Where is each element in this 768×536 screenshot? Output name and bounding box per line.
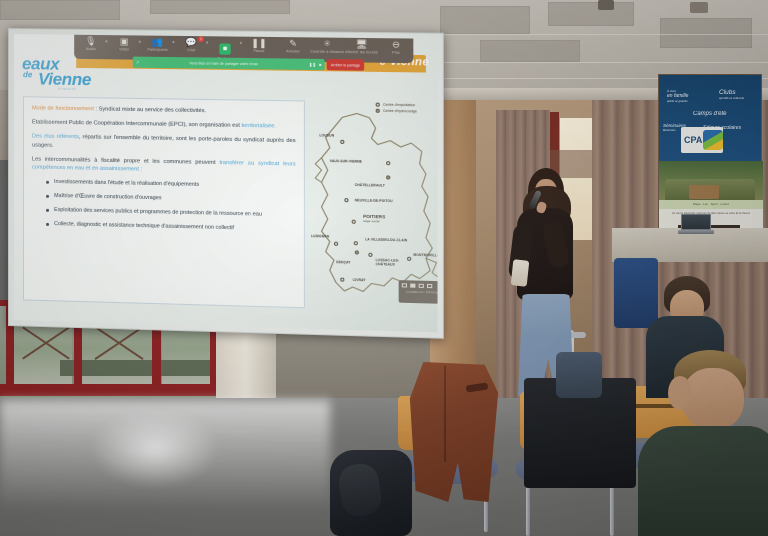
- logo-de-text: de: [23, 70, 32, 79]
- chat-unread-badge: 1: [198, 36, 204, 42]
- map-legend: Centre d'exploitation Centre d'hydrocura…: [376, 102, 417, 115]
- toolbar-participants-button[interactable]: 👥 ▲ Participants: [141, 36, 175, 52]
- toolbar-chat-label: Chat: [174, 48, 208, 52]
- presenter-papers: [511, 259, 530, 287]
- toolbar-audio-button[interactable]: 🎙 ▲ Audio: [74, 36, 107, 51]
- map-city-label: CIVRAY: [353, 278, 366, 282]
- toolbar-chat-button[interactable]: 💬 1 ▲ Chat: [174, 37, 208, 53]
- map-city-label: LOUDUN: [319, 133, 334, 137]
- toolbar-pause-label: Pause: [242, 49, 276, 53]
- laptop: [678, 214, 714, 236]
- slide-text-panel: Mode de fonctionnement : Syndicat mixte …: [23, 96, 305, 308]
- slide-bullet-item: Maîtrise d'Œuvre de construction d'ouvra…: [46, 192, 296, 205]
- slide-heading-line: Mode de fonctionnement : Syndicat mixte …: [32, 104, 296, 117]
- cpa-roll-up-banner: À vivre en famille petits et grands Club…: [658, 74, 762, 229]
- map-legend-label-1: Centre d'hydrocurage: [383, 108, 417, 115]
- toolbar-annotate-label: Annoter: [276, 49, 310, 53]
- cpa-strip: Plage · Lac · Sport · Loisirs: [659, 200, 763, 209]
- cpa-logo: CPA: [681, 127, 723, 153]
- slide-paragraph-4: Les intercommunalités à fiscalité propre…: [32, 155, 296, 177]
- backpack-strap: [337, 461, 384, 518]
- cpa-photo: [659, 161, 763, 205]
- toolbar-pause-button[interactable]: ❚❚ Pause: [242, 38, 276, 54]
- slide-heading-rest: : Syndicat mixte au service des collecti…: [94, 106, 206, 114]
- pause-icon: ❚❚: [242, 38, 276, 49]
- map-overlay-toolbar[interactable]: La qualité ici à : 178 Kil 0c: [399, 280, 438, 304]
- toolbar-video-label: Vidéo: [107, 47, 140, 51]
- cpa-strip-text: Plage · Lac · Sport · Loisirs: [659, 200, 763, 209]
- map-city-label: VAUX-SUR-VIENNE: [330, 159, 362, 164]
- slide-bullet-item: Collecte, diagnostic et assistance techn…: [46, 220, 296, 234]
- stop-small-icon[interactable]: ■: [319, 62, 322, 67]
- photo-scene: À vivre en famille petits et grands Club…: [0, 0, 768, 536]
- stop-share-label: Arrêter le partage: [331, 63, 360, 67]
- attendee-front-right: [656, 350, 768, 536]
- toolbar-more-button[interactable]: ⊖ Plus: [379, 39, 414, 55]
- toolbar-participants-label: Participants: [141, 48, 175, 52]
- cpa-line-0-sub2: petits et grands: [667, 99, 688, 103]
- slide-paragraph-2: Établissement Public de Coopération Inte…: [32, 118, 296, 131]
- laptop-keyboard: [678, 230, 714, 234]
- map-city-sub: siège social: [363, 219, 385, 224]
- stop-share-button[interactable]: Arrêter le partage: [327, 59, 364, 71]
- attendee-shoulder-mid: [556, 352, 602, 398]
- toolbar-more-label: Plus: [379, 50, 414, 55]
- annotate-pen-icon: ✎: [276, 38, 310, 49]
- toolbar-remote-control-button[interactable]: ⍟ Contrôle à distance: [310, 38, 344, 54]
- toolbar-show-screens-label: Afficher les écrans: [344, 50, 378, 55]
- cpa-line-1: Clubs: [719, 89, 736, 96]
- map-city-label: LUSSAC-LES-CHÂTEAUX: [376, 258, 403, 267]
- cpa-line-1-sub: sportifs et culturels: [719, 96, 744, 100]
- projected-slide: e Vienne 🎙 ▲ Audio ▣ ▲ Vidéo 👥 ▲ Partici…: [14, 34, 438, 332]
- microphone-icon: 🎙: [74, 36, 107, 46]
- slide-bullet-item: Exploitation des services publics et pro…: [46, 206, 296, 220]
- participants-icon: 👥: [141, 36, 175, 46]
- map-city-label-poitiers: POITIERS siège social: [363, 214, 385, 224]
- more-icon: ⊖: [379, 39, 414, 50]
- toolbar-audio-label: Audio: [74, 47, 107, 51]
- logo-subtitle: SYNDICAT: [58, 87, 76, 91]
- video-camera-icon: ▣: [107, 36, 140, 46]
- cpa-logo-swoosh: [703, 130, 723, 150]
- toolbar-remote-control-label: Contrôle à distance: [310, 50, 344, 54]
- map-city-label: GENÇAY: [336, 260, 351, 264]
- slide-paragraph-3: Des élus référents, répartis sur l'ensem…: [32, 132, 296, 154]
- slide-para2-text: Établissement Public de Coopération Inte…: [32, 119, 241, 129]
- coat-pocket: [466, 383, 489, 393]
- share-arrow-icon: ↗: [136, 60, 139, 65]
- slide-heading-label: Mode de fonctionnement: [32, 105, 94, 112]
- share-screen-icon: ■: [219, 43, 230, 54]
- open-circle-icon: [376, 103, 380, 107]
- vienne-department-map: Centre d'exploitation Centre d'hydrocura…: [311, 96, 437, 309]
- map-city-label: CHÂTELLERAULT: [355, 183, 385, 188]
- filled-circle-icon: [376, 109, 380, 113]
- remote-control-icon: ⍟: [310, 38, 344, 49]
- map-city-label: NEUVILLE-DE-POITOU: [355, 198, 393, 203]
- overlay-icon-2[interactable]: [410, 283, 415, 287]
- projection-screen: e Vienne 🎙 ▲ Audio ▣ ▲ Vidéo 👥 ▲ Partici…: [8, 28, 444, 339]
- backpack: [330, 450, 412, 536]
- floor-highlight: [90, 408, 220, 488]
- map-legend-item-1: Centre d'hydrocurage: [376, 108, 417, 115]
- slide-para3-highlight: Des élus référents: [32, 133, 79, 140]
- eaux-de-vienne-logo: eaux de Vienne SYNDICAT: [22, 56, 115, 97]
- map-overlay-buttons[interactable]: [402, 283, 438, 288]
- share-status-text: Vous êtes en train de partager votre écr…: [142, 60, 306, 66]
- cpa-logo-letters: CPA: [681, 137, 702, 144]
- toolbar-annotate-button[interactable]: ✎ Annoter: [276, 38, 310, 54]
- show-screens-icon: 🖥: [344, 39, 378, 50]
- laptop-screen: [681, 214, 711, 230]
- coat-seam: [444, 366, 446, 462]
- overlay-icon-1[interactable]: [402, 283, 407, 287]
- attendee-ear: [668, 376, 692, 410]
- slide-para2-highlight: territorialisée.: [241, 123, 276, 130]
- cpa-line-2: Camps d'été: [693, 111, 727, 117]
- map-city-label: MONTMORILLON: [413, 253, 437, 258]
- map-city-label: LUSIGNAN: [311, 234, 329, 239]
- pause-small-icon[interactable]: ❚❚: [309, 62, 316, 67]
- toolbar-show-screens-button[interactable]: 🖥 Afficher les écrans: [344, 39, 378, 55]
- toolbar-video-button[interactable]: ▣ ▲ Vidéo: [107, 36, 140, 52]
- map-overlay-caption: La qualité ici à : 178 Kil 0c: [402, 290, 438, 294]
- overlay-icon-4[interactable]: [427, 284, 432, 288]
- overlay-icon-3[interactable]: [419, 284, 424, 288]
- slide-bullet-list: Investissements dans l'étude et la réali…: [46, 178, 296, 234]
- slide-bullet-item: Investissements dans l'étude et la réali…: [46, 178, 296, 191]
